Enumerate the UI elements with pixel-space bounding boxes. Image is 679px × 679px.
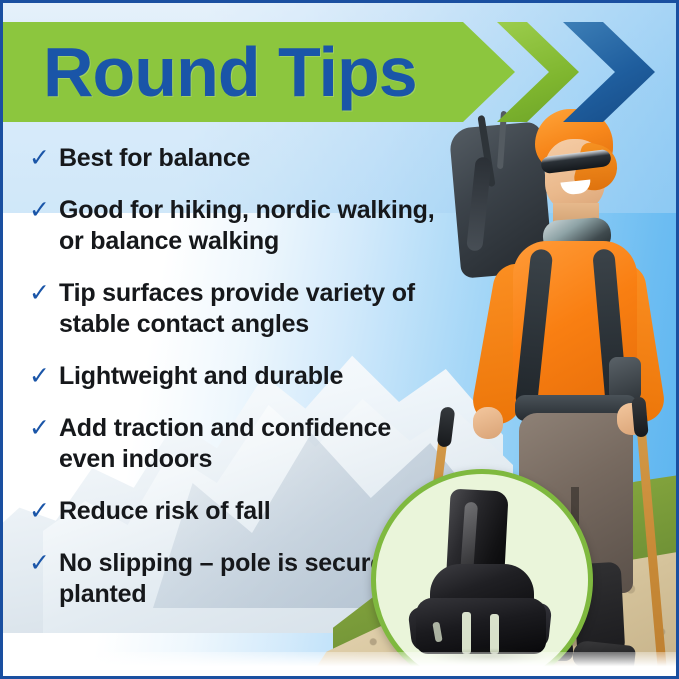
check-icon: ✓ [29, 143, 50, 174]
product-inset-circle [371, 469, 593, 679]
list-item: ✓ Best for balance [29, 143, 453, 174]
check-icon: ✓ [29, 548, 50, 579]
check-icon: ✓ [29, 496, 50, 527]
list-item: ✓ Add traction and confidence even indoo… [29, 413, 453, 475]
product-infographic: Round Tips ✓ Best for balance ✓ Good for… [0, 0, 679, 679]
bottom-fade [3, 652, 676, 676]
list-item: ✓ Lightweight and durable [29, 361, 453, 392]
check-icon: ✓ [29, 195, 50, 226]
hand-left [473, 407, 503, 439]
list-item-label: Tip surfaces provide variety of stable c… [59, 278, 453, 340]
list-item: ✓ Good for hiking, nordic walking, or ba… [29, 195, 453, 257]
check-icon: ✓ [29, 278, 50, 309]
list-item-label: Add traction and confidence even indoors [59, 413, 453, 475]
check-icon: ✓ [29, 361, 50, 392]
page-title: Round Tips [43, 29, 417, 115]
list-item-label: Best for balance [59, 143, 250, 174]
list-item-label: Good for hiking, nordic walking, or bala… [59, 195, 453, 257]
round-pole-tip-image [410, 490, 552, 656]
list-item-label: Reduce risk of fall [59, 496, 271, 527]
check-icon: ✓ [29, 413, 50, 444]
list-item-label: Lightweight and durable [59, 361, 343, 392]
list-item: ✓ Tip surfaces provide variety of stable… [29, 278, 453, 340]
header-banner: Round Tips [3, 22, 679, 124]
